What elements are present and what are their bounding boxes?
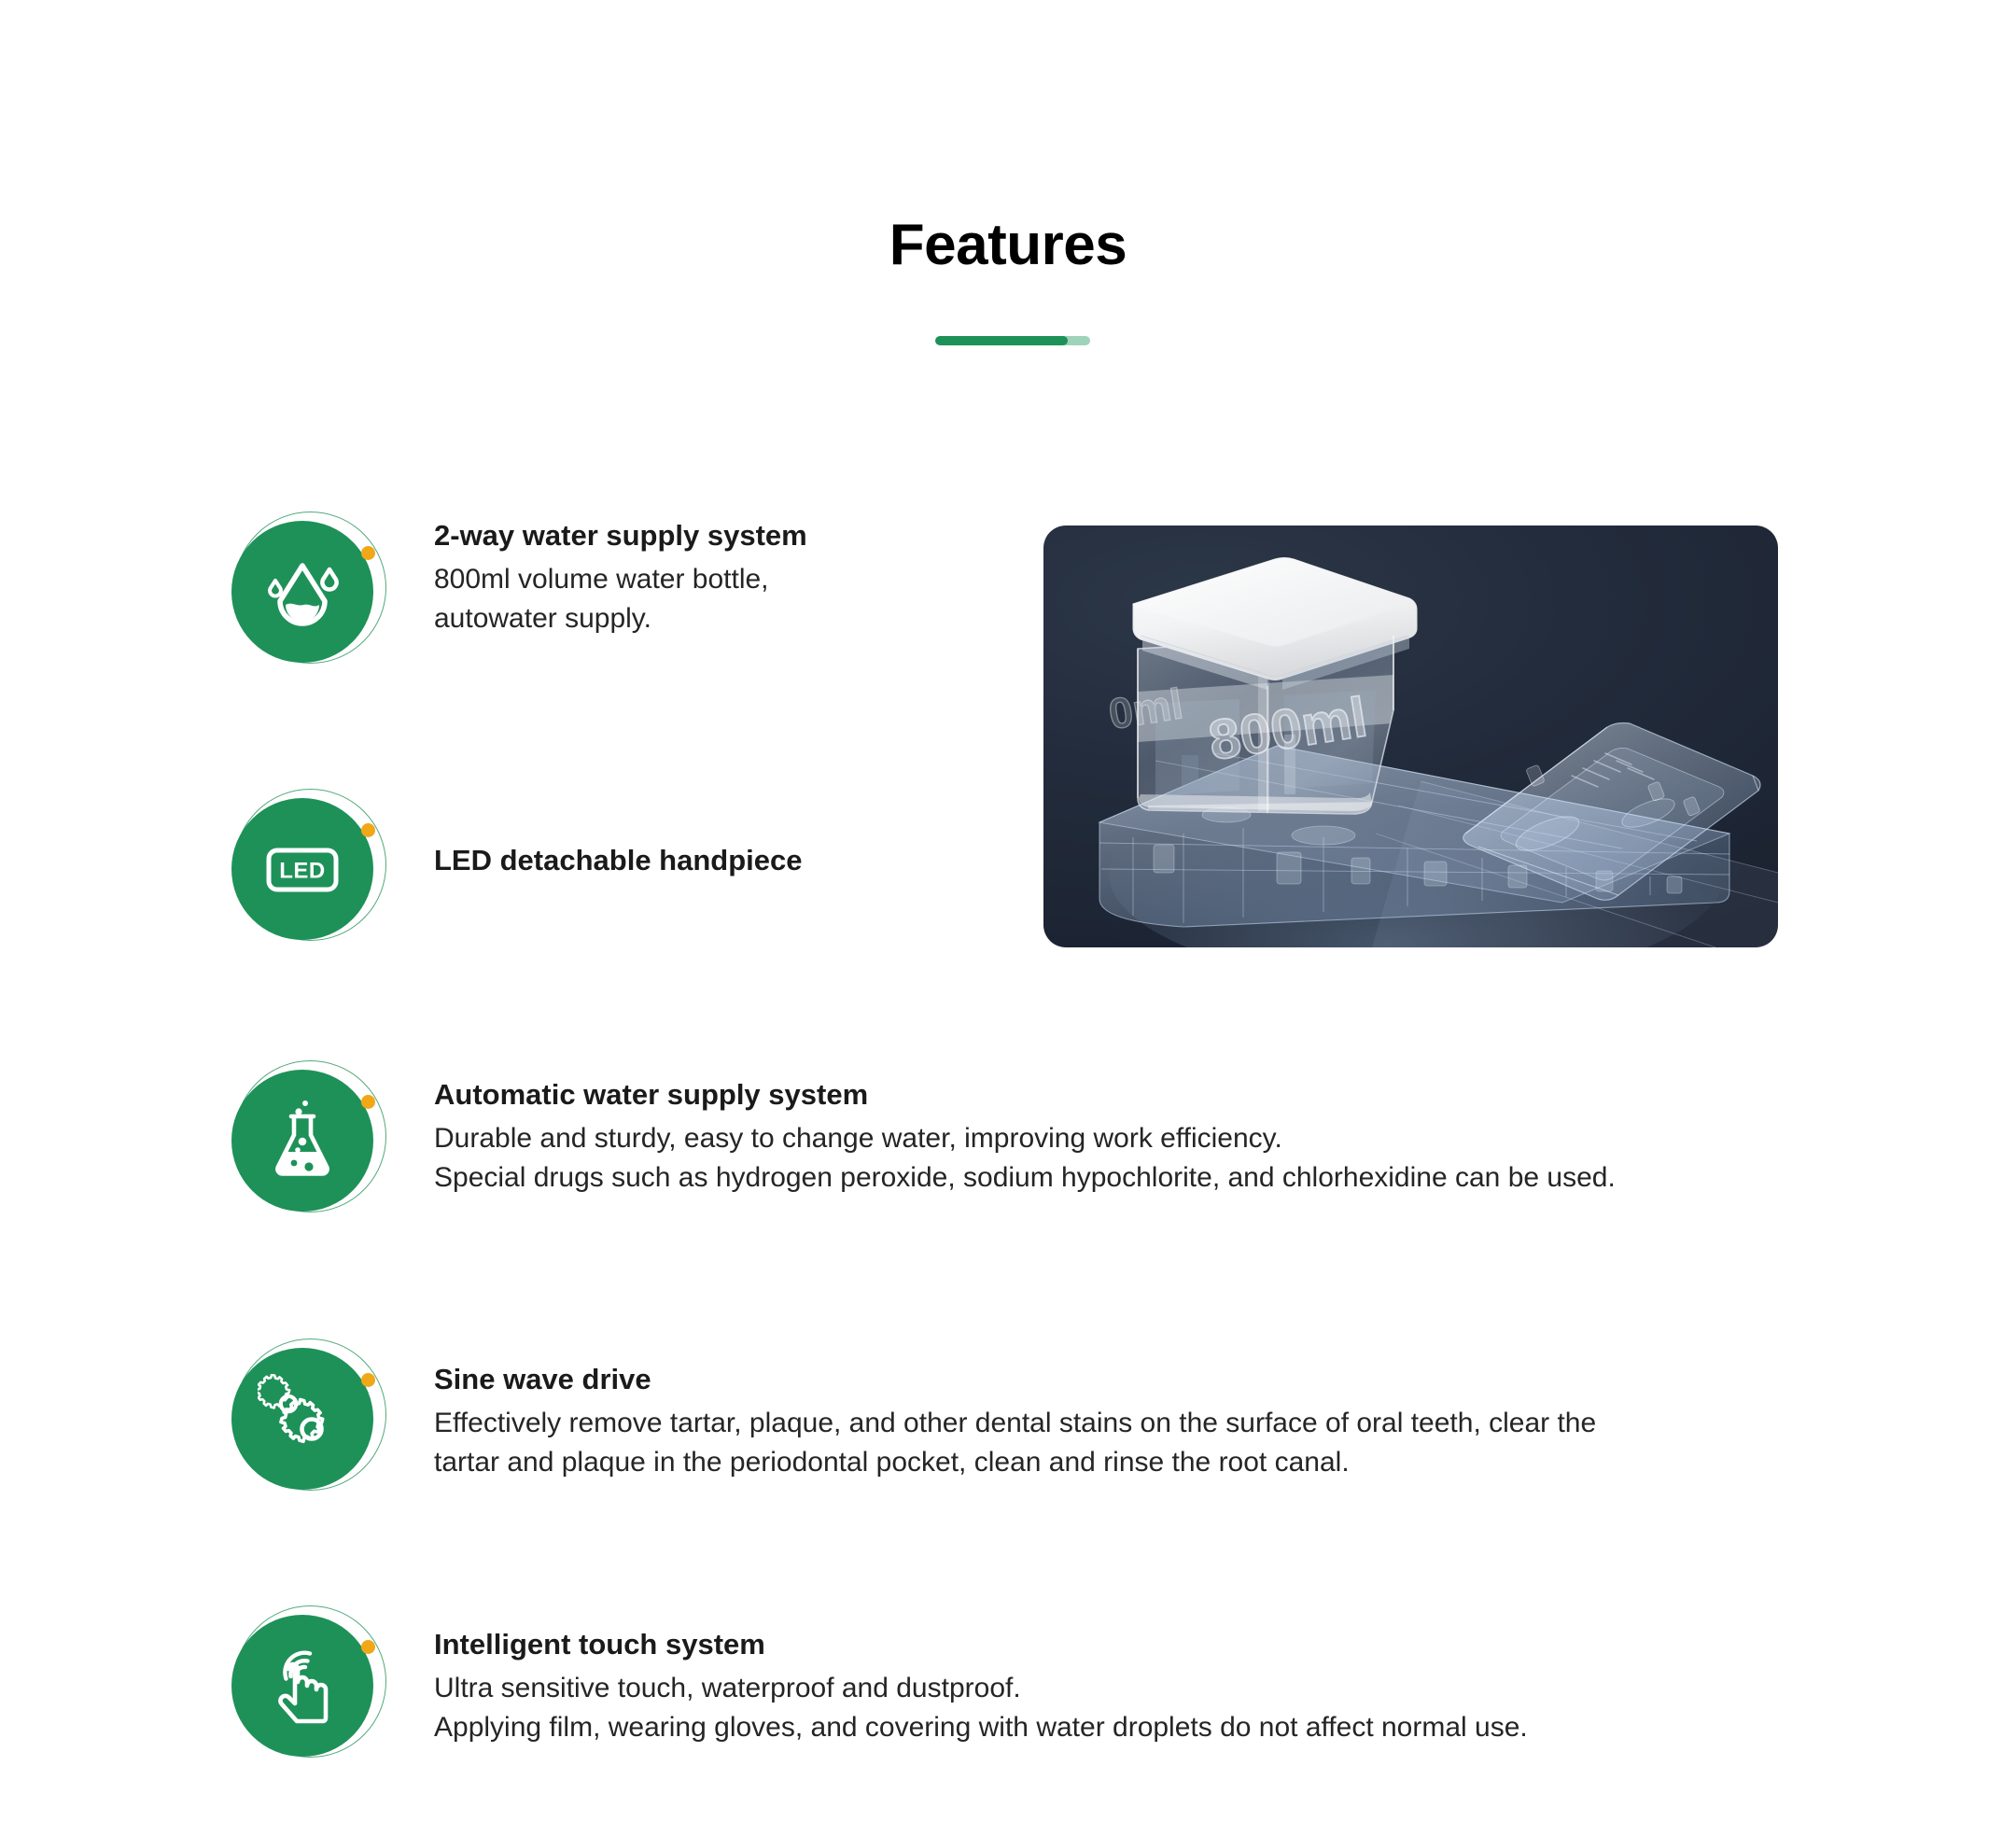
icon-accent-dot (361, 1640, 375, 1654)
icon-accent-dot (361, 546, 375, 560)
feature-icon-badge (231, 1338, 390, 1497)
feature-description-line: tartar and plaque in the periodontal poc… (434, 1443, 1825, 1483)
feature-icon-badge: LED (231, 789, 390, 947)
touch-hand-icon (231, 1615, 373, 1757)
feature-text-block: Intelligent touch system Ultra sensitive… (434, 1626, 1890, 1748)
flask-icon (231, 1070, 373, 1212)
feature-description: Durable and sturdy, easy to change water… (434, 1114, 1825, 1198)
svg-text:LED: LED (279, 859, 326, 884)
feature-text-block: Sine wave drive Effectively remove tarta… (434, 1361, 1890, 1483)
feature-description-line: Effectively remove tartar, plaque, and o… (434, 1404, 1825, 1444)
feature-description-line: Applying film, wearing gloves, and cover… (434, 1708, 1825, 1748)
feature-title: Sine wave drive (434, 1361, 1890, 1398)
feature-description-line: Durable and sturdy, easy to change water… (434, 1119, 1825, 1159)
feature-icon-badge (231, 1605, 390, 1764)
feature-description: Ultra sensitive touch, waterproof and du… (434, 1663, 1825, 1748)
feature-text-block: Automatic water supply system Durable an… (434, 1076, 1890, 1198)
gears-icon (231, 1348, 373, 1490)
feature-description-line: Special drugs such as hydrogen peroxide,… (434, 1158, 1825, 1198)
icon-accent-dot (361, 1095, 375, 1109)
led-badge-icon: LED (231, 798, 373, 940)
icon-accent-dot (361, 1373, 375, 1387)
feature-description-line: 800ml volume water bottle, (434, 560, 957, 600)
feature-description: 800ml volume water bottle, autowater sup… (434, 554, 957, 639)
icon-accent-dot (361, 823, 375, 837)
feature-title: Intelligent touch system (434, 1626, 1890, 1663)
feature-title: Automatic water supply system (434, 1076, 1890, 1114)
feature-icon-badge (231, 512, 390, 670)
water-bottle-800ml: 800ml 0ml (1105, 558, 1417, 821)
feature-description-line: Ultra sensitive touch, waterproof and du… (434, 1669, 1825, 1709)
feature-description-line: autowater supply. (434, 599, 957, 639)
feature-icon-badge (231, 1060, 390, 1219)
water-drop-icon (231, 521, 373, 663)
feature-description: Effectively remove tartar, plaque, and o… (434, 1398, 1825, 1483)
product-image-panel: 800ml 0ml (1043, 526, 1778, 947)
product-illustration: 800ml 0ml (1043, 526, 1778, 947)
